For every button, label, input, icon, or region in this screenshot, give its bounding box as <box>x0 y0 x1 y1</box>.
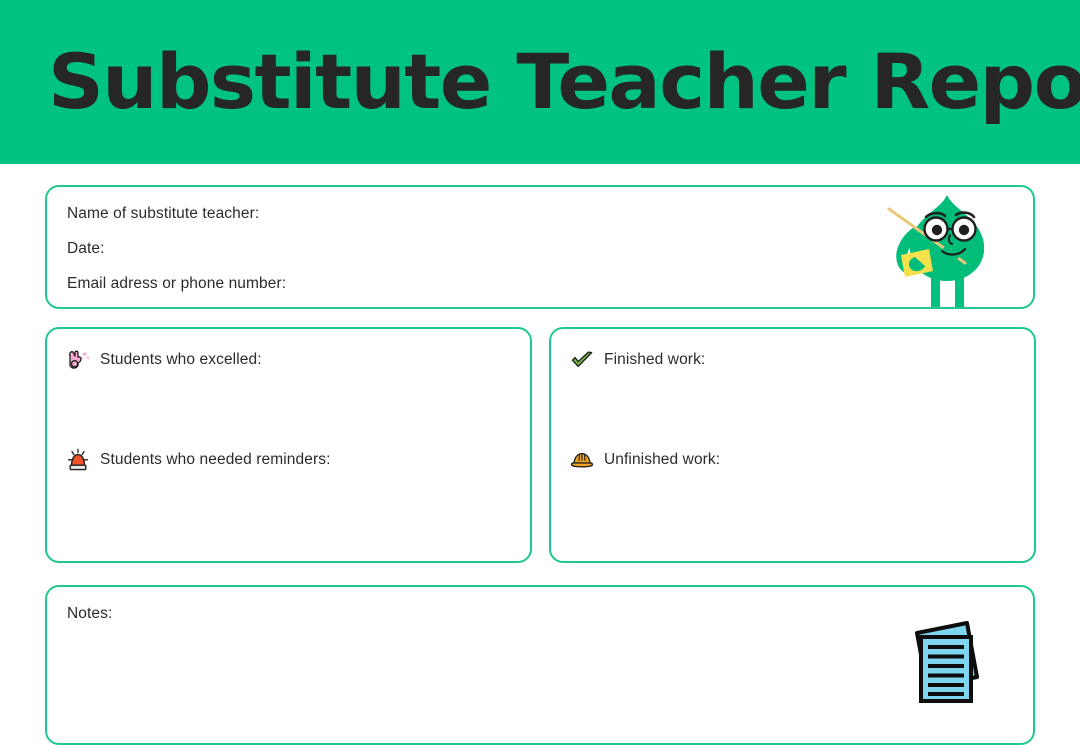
work-card: Finished work: Unfinished work: <box>549 327 1036 563</box>
row-students-excelled[interactable]: Students who excelled: <box>65 345 530 375</box>
notes-card: Notes: <box>45 585 1035 745</box>
row-label-unfinished-work: Unfinished work: <box>604 452 720 468</box>
row-finished-work[interactable]: Finished work: <box>569 345 1034 375</box>
page-header: Substitute Teacher Report <box>0 0 1080 164</box>
row-students-reminders[interactable]: Students who needed reminders: <box>65 445 530 475</box>
hard-hat-icon <box>569 447 595 473</box>
row-label-students-excelled: Students who excelled: <box>100 352 262 368</box>
green-check-icon <box>569 347 595 373</box>
siren-light-icon <box>65 447 91 473</box>
row-label-finished-work: Finished work: <box>604 352 705 368</box>
notes-label[interactable]: Notes: <box>67 605 1033 622</box>
row-unfinished-work[interactable]: Unfinished work: <box>569 445 1034 475</box>
identity-card: Name of substitute teacher: Date: Email … <box>45 185 1035 309</box>
row-label-students-reminders: Students who needed reminders: <box>100 452 330 468</box>
students-card: Students who excelled: Students who need… <box>45 327 532 563</box>
ok-hand-sparkle-icon <box>65 347 91 373</box>
page-title: Substitute Teacher Report <box>48 44 1080 120</box>
stacked-documents-illustration <box>895 615 991 711</box>
teacher-character-illustration <box>879 187 1015 307</box>
